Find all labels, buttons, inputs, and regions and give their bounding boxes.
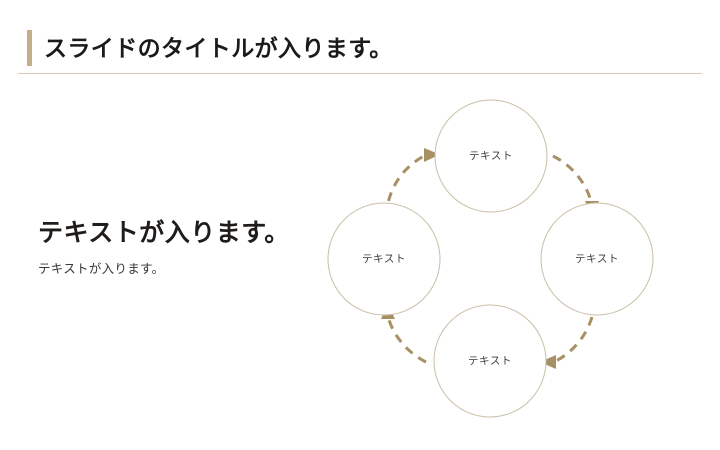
cycle-node-left[interactable]: テキスト — [328, 203, 440, 315]
cycle-node-right[interactable]: テキスト — [541, 203, 653, 315]
lead-heading: テキストが入ります。 — [38, 215, 308, 251]
cycle-node-top[interactable]: テキスト — [435, 100, 547, 212]
cycle-diagram: テキスト テキスト テキスト テキスト — [320, 88, 665, 433]
cycle-node-left-label: テキスト — [362, 253, 406, 265]
arrow-left-to-top — [389, 148, 441, 201]
left-text-column: テキストが入ります。 テキストが入ります。 — [38, 215, 308, 279]
title-accent-bar — [27, 30, 32, 66]
cycle-node-bottom-label: テキスト — [468, 355, 512, 367]
arrow-right-to-bottom — [540, 317, 592, 369]
lead-body-text: テキストが入ります。 — [38, 259, 308, 279]
header-divider — [18, 73, 702, 74]
page-title: スライドのタイトルが入ります。 — [44, 31, 393, 65]
cycle-node-top-label: テキスト — [469, 150, 513, 162]
cycle-node-bottom[interactable]: テキスト — [434, 305, 546, 417]
slide-header: スライドのタイトルが入ります。 — [0, 0, 720, 76]
cycle-node-right-label: テキスト — [575, 253, 619, 265]
